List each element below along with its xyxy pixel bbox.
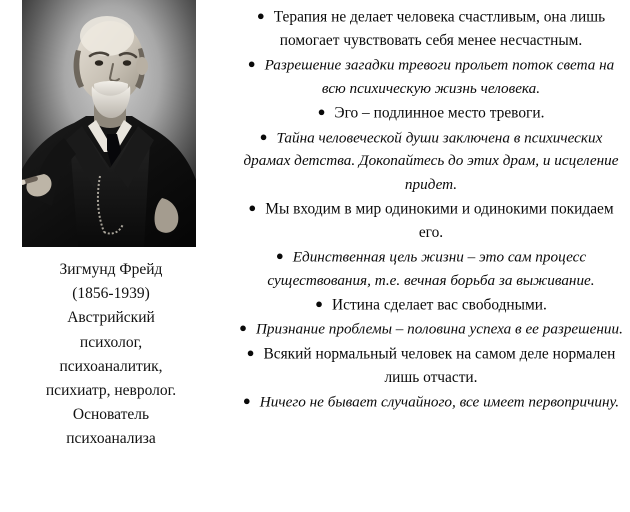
bullet-icon: ● xyxy=(247,345,264,360)
quotes-list: ●Терапия не делает человека счастливым, … xyxy=(232,0,630,512)
bullet-icon: ● xyxy=(257,8,274,23)
caption-line: Зигмунд Фрейд xyxy=(6,258,216,282)
slide-root: Зигмунд Фрейд(1856-1939)Австрийскийпсихо… xyxy=(0,0,630,512)
quote-text: Всякий нормальный человек на самом деле … xyxy=(263,346,615,386)
freud-portrait-photo xyxy=(22,0,196,247)
quote-item: ●Эго – подлинное место тревоги. xyxy=(232,100,630,125)
caption-line: психиатр, невролог. xyxy=(6,379,216,403)
quote-text: Разрешение загадки тревоги прольет поток… xyxy=(265,57,615,97)
bullet-icon: ● xyxy=(315,296,332,311)
bullet-icon: ● xyxy=(276,248,293,263)
quote-item: ●Ничего не бывает случайного, все имеет … xyxy=(232,389,630,414)
quote-item: ●Тайна человеческой души заключена в пси… xyxy=(232,125,630,196)
quote-item: ●Истина сделает вас свободными. xyxy=(232,292,630,317)
portrait-illustration xyxy=(22,0,196,247)
quote-text: Терапия не делает человека счастливым, о… xyxy=(274,9,605,49)
caption-line: Основатель xyxy=(6,403,216,427)
portrait-caption: Зигмунд Фрейд(1856-1939)Австрийскийпсихо… xyxy=(6,258,216,452)
bullet-icon: ● xyxy=(260,129,277,144)
bullet-icon: ● xyxy=(239,320,256,335)
bullet-icon: ● xyxy=(248,56,265,71)
quote-text: Признание проблемы – половина успеха в е… xyxy=(256,321,623,338)
caption-line: (1856-1939) xyxy=(6,282,216,306)
quote-item: ●Мы входим в мир одинокими и одинокими п… xyxy=(232,196,630,244)
caption-line: психоаналитик, xyxy=(6,355,216,379)
caption-line: психолог, xyxy=(6,331,216,355)
quote-text: Мы входим в мир одинокими и одинокими по… xyxy=(265,200,613,240)
quote-text: Тайна человеческой души заключена в псих… xyxy=(243,129,618,192)
quote-item: ●Всякий нормальный человек на самом деле… xyxy=(232,341,630,389)
quote-item: ●Единственная цель жизни – это сам проце… xyxy=(232,244,630,292)
quote-item: ●Разрешение загадки тревоги прольет пото… xyxy=(232,52,630,100)
portrait-column: Зигмунд Фрейд(1856-1939)Австрийскийпсихо… xyxy=(0,0,222,512)
quote-item: ●Признание проблемы – половина успеха в … xyxy=(232,316,630,341)
quote-text: Единственная цель жизни – это сам процес… xyxy=(267,248,594,288)
bullet-icon: ● xyxy=(243,393,260,408)
quote-text: Ничего не бывает случайного, все имеет п… xyxy=(260,394,619,411)
quote-item: ●Терапия не делает человека счастливым, … xyxy=(232,4,630,52)
quote-text: Эго – подлинное место тревоги. xyxy=(334,104,544,121)
caption-line: Австрийский xyxy=(6,306,216,330)
caption-line: психоанализа xyxy=(6,427,216,451)
quote-text: Истина сделает вас свободными. xyxy=(332,296,547,313)
bullet-icon: ● xyxy=(248,200,265,215)
bullet-icon: ● xyxy=(318,104,335,119)
